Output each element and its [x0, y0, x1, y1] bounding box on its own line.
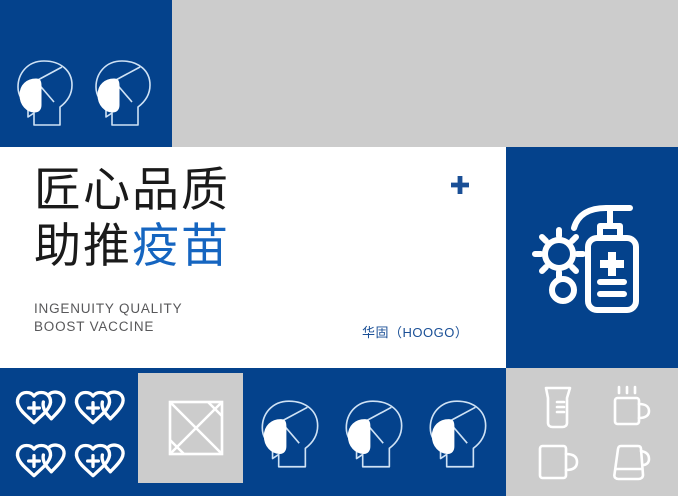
- poster-canvas: 匠心品质 助推疫苗 INGENUITY QUALITY BOOST VACCIN…: [0, 0, 678, 496]
- measuring-beaker-icon: [524, 382, 591, 431]
- headline-line-2-black: 助推: [34, 219, 132, 274]
- top-gray-panel: [172, 0, 678, 147]
- bottom-cup-group: [524, 382, 664, 486]
- headline-line-1: 匠心品质: [34, 163, 364, 219]
- subtitle: INGENUITY QUALITY BOOST VACCINE: [34, 300, 182, 336]
- face-mask-profile-icon: [426, 395, 492, 477]
- broken-image-placeholder-icon: [168, 400, 224, 456]
- face-mask-profile-icon: [258, 395, 324, 477]
- steaming-mug-icon: [597, 382, 664, 431]
- bottom-heart-group: [14, 382, 129, 486]
- double-heart-cross-icon: [14, 382, 71, 433]
- double-heart-cross-icon: [14, 435, 71, 486]
- subtitle-line-1: INGENUITY QUALITY: [34, 300, 182, 318]
- face-mask-profile-icon: [14, 55, 78, 135]
- face-mask-profile-icon: [92, 55, 156, 135]
- medical-cross-icon: [450, 175, 470, 195]
- hand-sanitizer-pump-bottle-icon: [526, 192, 658, 324]
- subtitle-line-2: BOOST VACCINE: [34, 318, 182, 336]
- page-title: 匠心品质 助推疫苗: [34, 163, 364, 275]
- double-heart-cross-icon: [73, 435, 130, 486]
- headline-line-2: 助推疫苗: [34, 219, 364, 275]
- plain-mug-icon: [524, 437, 591, 486]
- face-mask-profile-icon: [342, 395, 408, 477]
- headline-line-2-accent: 疫苗: [132, 219, 230, 274]
- double-heart-cross-icon: [73, 382, 130, 433]
- bottom-mask-group: [258, 388, 493, 484]
- top-mask-group: [14, 52, 164, 137]
- brand-name: 华固（HOOGO）: [362, 322, 468, 341]
- kettle-pitcher-icon: [597, 437, 664, 486]
